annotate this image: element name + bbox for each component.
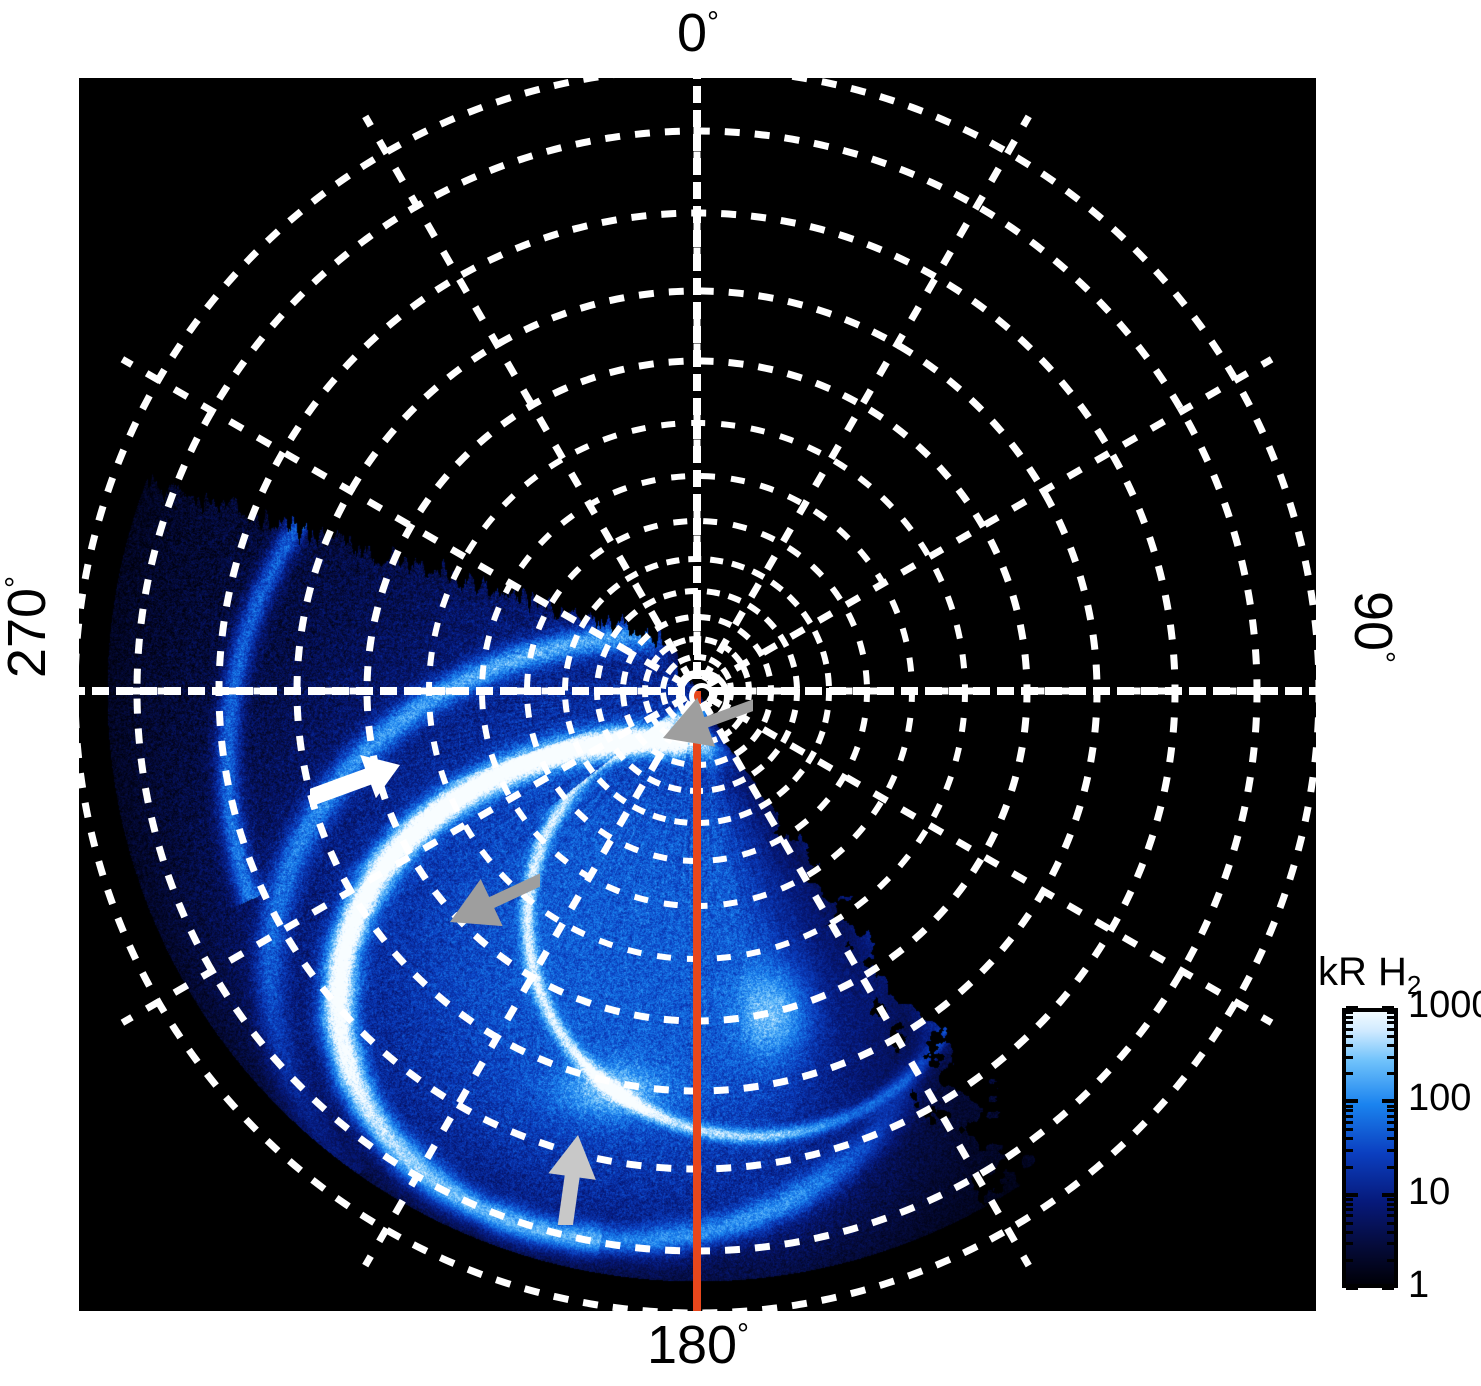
- gray-arrow-midlatitude: [360, 832, 540, 1012]
- colorbar-minor-tick: [1387, 1011, 1394, 1014]
- colorbar-minor-tick: [1387, 1016, 1394, 1019]
- colorbar-major-tick: [1382, 1286, 1394, 1290]
- arrow-shape: [310, 755, 400, 825]
- colorbar-minor-tick: [1387, 1166, 1394, 1169]
- axis-label-left: 270°: [0, 542, 54, 712]
- colorbar-minor-tick: [1346, 1115, 1353, 1118]
- colorbar-minor-tick: [1346, 1259, 1353, 1262]
- colorbar-minor-tick: [1346, 1109, 1353, 1112]
- axis-label-right-value: 90: [1343, 591, 1403, 651]
- axis-label-bottom: 180°: [0, 1318, 1396, 1372]
- grid-spoke: [711, 699, 1269, 1021]
- colorbar-minor-tick: [1346, 1214, 1353, 1217]
- colorbar-title: kR H2: [1318, 950, 1421, 995]
- colorbar-minor-tick: [1346, 1242, 1353, 1245]
- colorbar-major-tick: [1346, 1286, 1358, 1290]
- gray-arrow-polar-emission: [573, 648, 753, 828]
- grid-spoke: [711, 361, 1269, 683]
- axis-label-top: 0°: [0, 6, 1396, 60]
- colorbar-minor-tick: [1387, 1231, 1394, 1234]
- colorbar: kR H2 1000100101: [1318, 950, 1481, 1350]
- colorbar-tick-label: 1: [1408, 1266, 1429, 1304]
- colorbar-tick-label: 10: [1408, 1173, 1450, 1211]
- colorbar-minor-tick: [1387, 1214, 1394, 1217]
- degree-symbol-bottom: °: [737, 1318, 749, 1351]
- colorbar-minor-tick: [1387, 1028, 1394, 1031]
- axis-label-left-value: 270: [0, 588, 57, 678]
- colorbar-major-tick: [1346, 1193, 1358, 1197]
- colorbar-major-tick: [1382, 1006, 1394, 1010]
- colorbar-minor-tick: [1387, 1203, 1394, 1206]
- colorbar-minor-tick: [1346, 1072, 1353, 1075]
- colorbar-title-main: kR H: [1318, 950, 1407, 994]
- colorbar-minor-tick: [1387, 1198, 1394, 1201]
- colorbar-major-tick: [1382, 1099, 1394, 1103]
- colorbar-tick-label: 1000: [1408, 986, 1481, 1024]
- colorbar-minor-tick: [1387, 1115, 1394, 1118]
- colorbar-minor-tick: [1387, 1222, 1394, 1225]
- arrow-shape: [548, 1135, 596, 1225]
- degree-symbol-left: °: [0, 576, 33, 588]
- colorbar-minor-tick: [1346, 1198, 1353, 1201]
- colorbar-tick-label: 100: [1408, 1079, 1471, 1117]
- axis-label-right: 90°: [1346, 542, 1400, 712]
- colorbar-minor-tick: [1387, 1242, 1394, 1245]
- colorbar-minor-tick: [1346, 1222, 1353, 1225]
- colorbar-minor-tick: [1346, 1056, 1353, 1059]
- colorbar-minor-tick: [1346, 1021, 1353, 1024]
- white-arrow-main-oval: [310, 675, 490, 855]
- colorbar-minor-tick: [1346, 1149, 1353, 1152]
- colorbar-minor-tick: [1387, 1021, 1394, 1024]
- colorbar-minor-tick: [1346, 1208, 1353, 1211]
- colorbar-major-tick: [1382, 1193, 1394, 1197]
- colorbar-minor-tick: [1346, 1105, 1353, 1108]
- colorbar-minor-tick: [1387, 1121, 1394, 1124]
- colorbar-minor-tick: [1346, 1121, 1353, 1124]
- grid-spoke: [705, 119, 1027, 677]
- colorbar-major-tick: [1346, 1006, 1358, 1010]
- colorbar-minor-tick: [1346, 1166, 1353, 1169]
- colorbar-major-tick: [1346, 1099, 1358, 1103]
- grid-spoke: [705, 705, 1027, 1263]
- axis-label-top-value: 0: [677, 3, 707, 63]
- colorbar-minor-tick: [1387, 1056, 1394, 1059]
- colorbar-gradient: [1342, 1008, 1398, 1288]
- colorbar-minor-tick: [1346, 1231, 1353, 1234]
- axis-label-bottom-value: 180: [647, 1315, 737, 1375]
- grid-spoke: [367, 119, 689, 677]
- colorbar-minor-tick: [1387, 1149, 1394, 1152]
- colorbar-minor-tick: [1387, 1109, 1394, 1112]
- colorbar-minor-tick: [1346, 1028, 1353, 1031]
- colorbar-minor-tick: [1387, 1128, 1394, 1131]
- colorbar-minor-tick: [1346, 1016, 1353, 1019]
- colorbar-minor-tick: [1346, 1203, 1353, 1206]
- colorbar-minor-tick: [1387, 1072, 1394, 1075]
- arrow-shape: [450, 873, 540, 927]
- arrow-shape: [663, 697, 753, 747]
- colorbar-minor-tick: [1387, 1035, 1394, 1038]
- colorbar-minor-tick: [1346, 1128, 1353, 1131]
- colorbar-minor-tick: [1387, 1259, 1394, 1262]
- colorbar-minor-tick: [1387, 1208, 1394, 1211]
- grid-spoke: [125, 361, 683, 683]
- colorbar-minor-tick: [1387, 1044, 1394, 1047]
- figure-root: 0° 180° 270° 90° kR H2 1000100101: [0, 0, 1481, 1386]
- colorbar-minor-tick: [1346, 1044, 1353, 1047]
- colorbar-minor-tick: [1387, 1137, 1394, 1140]
- polar-plot-area: [79, 78, 1316, 1311]
- colorbar-minor-tick: [1346, 1011, 1353, 1014]
- degree-symbol-right: °: [1367, 651, 1400, 663]
- colorbar-minor-tick: [1346, 1035, 1353, 1038]
- degree-symbol-top: °: [707, 6, 719, 39]
- gray-arrow-diffuse-equatorward: [488, 1045, 668, 1225]
- colorbar-minor-tick: [1387, 1105, 1394, 1108]
- colorbar-minor-tick: [1346, 1137, 1353, 1140]
